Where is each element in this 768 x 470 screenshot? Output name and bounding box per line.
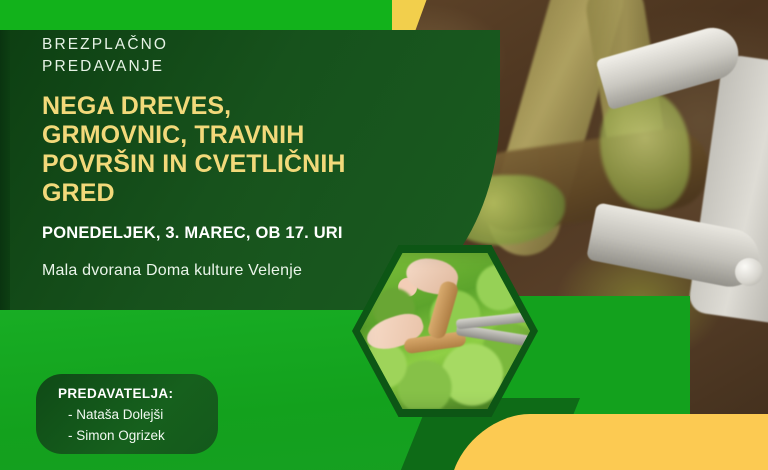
event-poster: BREZPLAČNO PREDAVANJE NEGA DREVES, GRMOV… [0,0,768,470]
green-top-band-shape [0,0,392,34]
speakers-box: PREDAVATELJA: - Nataša Dolejši - Simon O… [36,374,218,454]
speakers-title: PREDAVATELJA: [58,386,218,401]
poster-kicker: BREZPLAČNO PREDAVANJE [42,34,168,78]
poster-headline: NEGA DREVES, GRMOVNIC, TRAVNIH POVRŠIN I… [42,92,372,208]
event-date-time: PONEDELJEK, 3. MAREC, OB 17. URI [42,224,343,243]
hedge-trimming-photo [360,253,530,409]
kicker-line-2: PREDAVANJE [42,56,168,78]
speaker-item: - Nataša Dolejši [58,405,218,426]
speaker-item: - Simon Ogrizek [58,426,218,447]
yellow-bottom-fill-shape [548,440,768,470]
shears-rivet-icon [735,258,763,286]
event-venue: Mala dvorana Doma kulture Velenje [42,262,302,280]
hexagon-inner-shadow [360,253,530,409]
panel-left-edge-strip [0,30,10,312]
kicker-line-1: BREZPLAČNO [42,34,168,56]
